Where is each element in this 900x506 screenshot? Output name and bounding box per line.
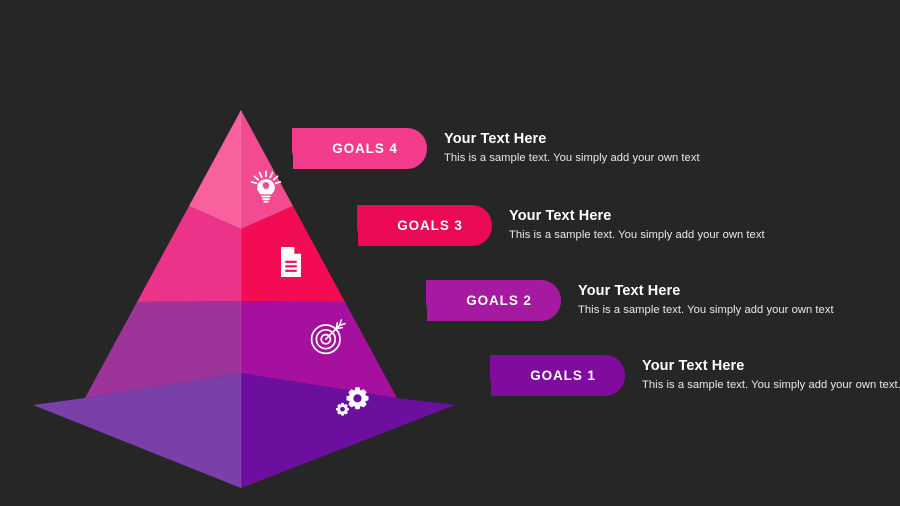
goal-title-2: Your Text Here [578,282,834,300]
goal-text-block-1: Your Text Here This is a sample text. Yo… [642,357,900,393]
goal-description-1: This is a sample text. You simply add yo… [642,377,900,393]
document-icon [281,247,301,277]
slide-canvas: GOALS 4 Your Text Here This is a sample … [0,0,900,506]
goal-pill-2[interactable]: GOALS 2 [427,280,561,321]
goal-text-block-2: Your Text Here This is a sample text. Yo… [578,282,834,318]
goal-row-2[interactable]: GOALS 2 Your Text Here This is a sample … [427,280,834,321]
goal-description-3: This is a sample text. You simply add yo… [509,227,765,243]
goal-pill-label-4: GOALS 4 [332,141,398,156]
pyramid-right-face-level-1[interactable] [241,373,455,488]
goal-pill-label-3: GOALS 3 [397,218,463,233]
goal-title-4: Your Text Here [444,130,700,148]
goal-description-4: This is a sample text. You simply add yo… [444,150,700,166]
pyramid-svg [0,0,500,506]
goal-title-3: Your Text Here [509,207,765,225]
goal-row-4[interactable]: GOALS 4 Your Text Here This is a sample … [293,128,700,169]
goal-title-1: Your Text Here [642,357,900,375]
pyramid-graphic[interactable] [0,0,500,506]
goal-description-2: This is a sample text. You simply add yo… [578,302,834,318]
goal-pill-4[interactable]: GOALS 4 [293,128,427,169]
goal-row-3[interactable]: GOALS 3 Your Text Here This is a sample … [358,205,765,246]
goal-pill-3[interactable]: GOALS 3 [358,205,492,246]
pyramid-left-face-level-1[interactable] [33,373,241,488]
goal-text-block-3: Your Text Here This is a sample text. Yo… [509,207,765,243]
goal-pill-1[interactable]: GOALS 1 [491,355,625,396]
goal-text-block-4: Your Text Here This is a sample text. Yo… [444,130,700,166]
goal-pill-label-2: GOALS 2 [466,293,532,308]
goal-row-1[interactable]: GOALS 1 Your Text Here This is a sample … [491,355,900,396]
goal-pill-label-1: GOALS 1 [530,368,596,383]
